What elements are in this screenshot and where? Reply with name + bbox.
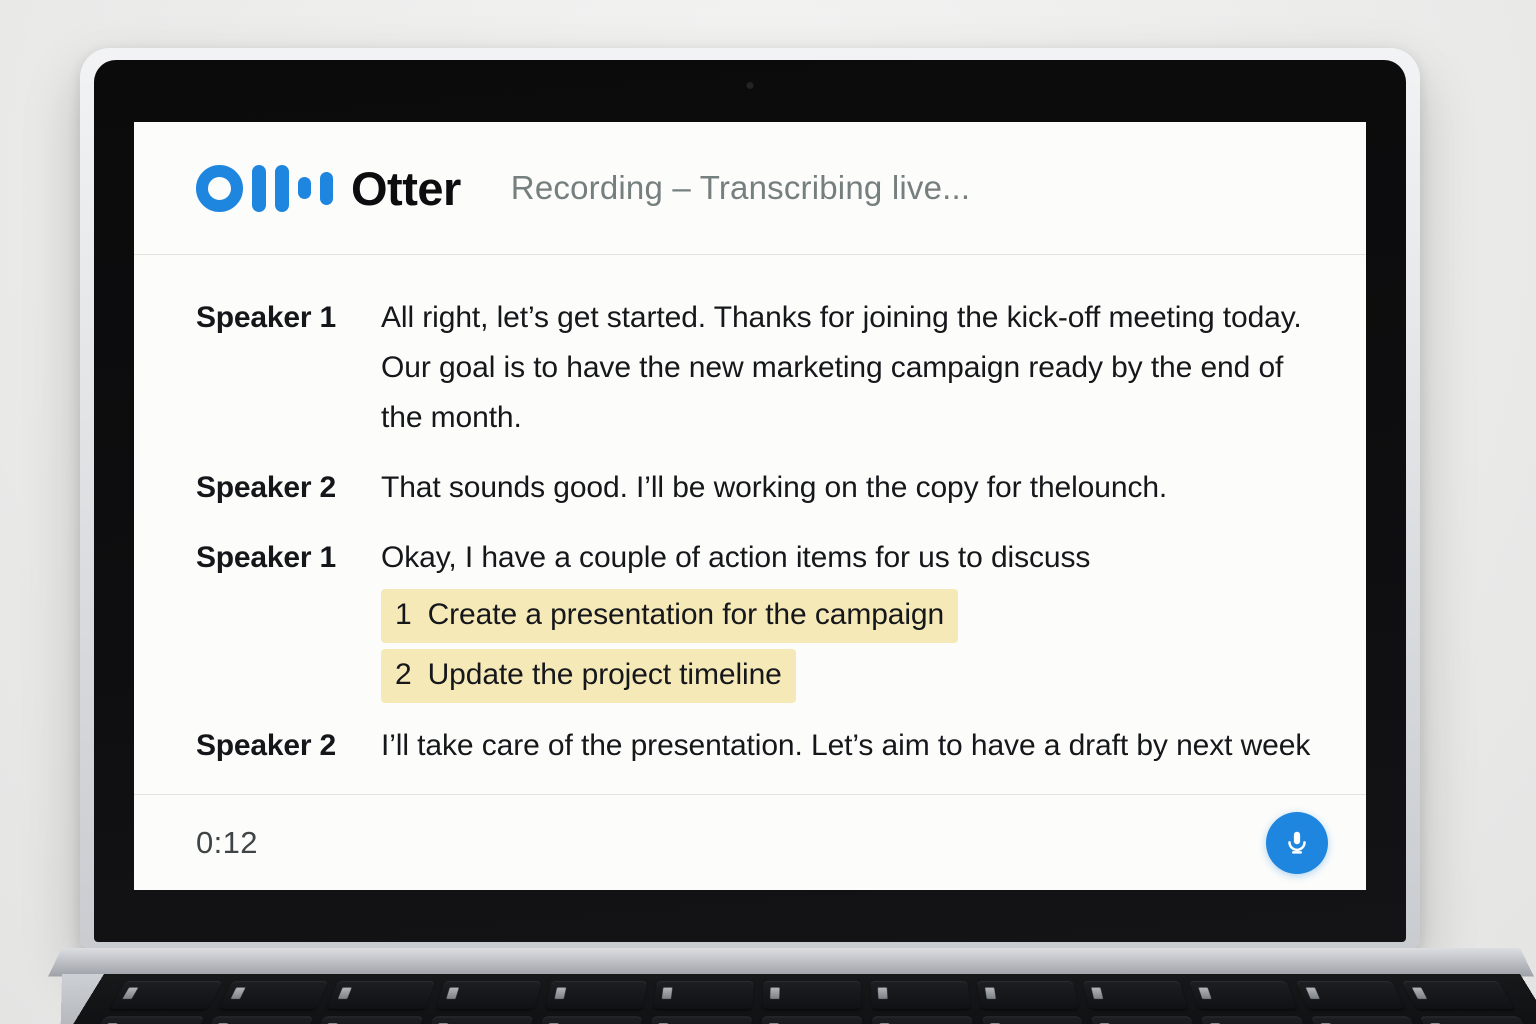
keyboard-row [60, 1016, 1536, 1024]
keyboard-key[interactable] [1091, 1016, 1200, 1024]
transcript-turn[interactable]: Speaker 2 That sounds good. I’ll be work… [196, 463, 1314, 513]
speaker-label: Speaker 2 [196, 463, 381, 513]
recording-timer: 0:12 [196, 825, 258, 861]
keyboard-key[interactable] [327, 981, 435, 1009]
keyboard-key[interactable] [649, 1016, 752, 1024]
logo-bar-icon [275, 165, 289, 212]
keyboard-key[interactable] [1402, 981, 1515, 1009]
laptop-base [62, 948, 1520, 1024]
keyboard[interactable] [53, 974, 1536, 1024]
keyboard-key[interactable] [977, 981, 1080, 1009]
speaker-label: Speaker 1 [196, 293, 381, 443]
transcript-turn[interactable]: Speaker 2 I’ll take care of the presenta… [196, 721, 1314, 771]
action-item-text: Update the project timeline [428, 654, 782, 696]
microphone-button[interactable] [1266, 812, 1328, 874]
utterance-text[interactable]: That sounds good. I’ll be working on the… [381, 463, 1314, 513]
keyboard-key[interactable] [436, 981, 541, 1009]
app-footer: 0:12 [134, 794, 1366, 890]
action-items-list: 1 Create a presentation for the campaign… [381, 589, 1314, 703]
transcript-turn[interactable]: Speaker 1 All right, let’s get started. … [196, 293, 1314, 443]
keyboard-key[interactable] [872, 1016, 975, 1024]
action-item[interactable]: 1 Create a presentation for the campaign [381, 589, 958, 643]
keyboard-key[interactable] [1310, 1016, 1424, 1024]
keyboard-key[interactable] [761, 1016, 863, 1024]
keyboard-key[interactable] [870, 981, 970, 1009]
keyboard-key[interactable] [763, 981, 862, 1009]
recording-status: Recording – Transcribing live... [511, 169, 970, 207]
app-screen: Otter Recording – Transcribing live... S… [134, 122, 1366, 890]
brand-name: Otter [351, 165, 461, 212]
otter-waveform-logo-icon [196, 162, 333, 214]
speaker-label: Speaker 2 [196, 721, 381, 771]
transcript-panel[interactable]: Speaker 1 All right, let’s get started. … [134, 255, 1366, 794]
keyboard-key[interactable] [424, 1016, 533, 1024]
app-header: Otter Recording – Transcribing live... [134, 122, 1366, 255]
keyboard-key[interactable] [654, 981, 754, 1009]
action-item-number: 2 [395, 654, 412, 696]
webcam-icon [747, 82, 754, 89]
utterance-text[interactable]: Okay, I have a couple of action items fo… [381, 533, 1314, 583]
action-item-text: Create a presentation for the campaign [428, 594, 945, 636]
keyboard-key[interactable] [982, 1016, 1088, 1024]
action-item[interactable]: 2 Update the project timeline [381, 649, 796, 703]
keyboard-key[interactable] [200, 1016, 314, 1024]
logo-bar-icon [320, 172, 333, 205]
keyboard-row [83, 981, 1536, 1009]
keyboard-key[interactable] [537, 1016, 643, 1024]
keyboard-key[interactable] [1296, 981, 1406, 1009]
base-front-edge [48, 948, 1534, 976]
utterance-text[interactable]: I’ll take care of the presentation. Let’… [381, 721, 1314, 771]
keyboard-key[interactable] [109, 981, 222, 1009]
keyboard-key[interactable] [1201, 1016, 1312, 1024]
screen-bezel: Otter Recording – Transcribing live... S… [94, 60, 1406, 942]
keyboard-key[interactable] [1083, 981, 1188, 1009]
keyboard-key[interactable] [218, 981, 328, 1009]
transcript-turn[interactable]: Speaker 1 Okay, I have a couple of actio… [196, 533, 1314, 583]
keyboard-key[interactable] [1420, 1016, 1536, 1024]
action-item-number: 1 [395, 594, 412, 636]
keyboard-key[interactable] [1189, 981, 1297, 1009]
logo-bar-icon [298, 177, 311, 199]
keyboard-key[interactable] [87, 1016, 204, 1024]
logo-bar-icon [252, 165, 266, 212]
microphone-icon [1282, 828, 1312, 858]
logo-ring-icon [196, 165, 243, 212]
keyboard-key[interactable] [545, 981, 648, 1009]
brand-block: Otter [196, 162, 461, 214]
utterance-text[interactable]: All right, let’s get started. Thanks for… [381, 293, 1314, 443]
speaker-label: Speaker 1 [196, 533, 381, 583]
keyboard-key[interactable] [312, 1016, 423, 1024]
laptop-device: Otter Recording – Transcribing live... S… [80, 48, 1420, 948]
